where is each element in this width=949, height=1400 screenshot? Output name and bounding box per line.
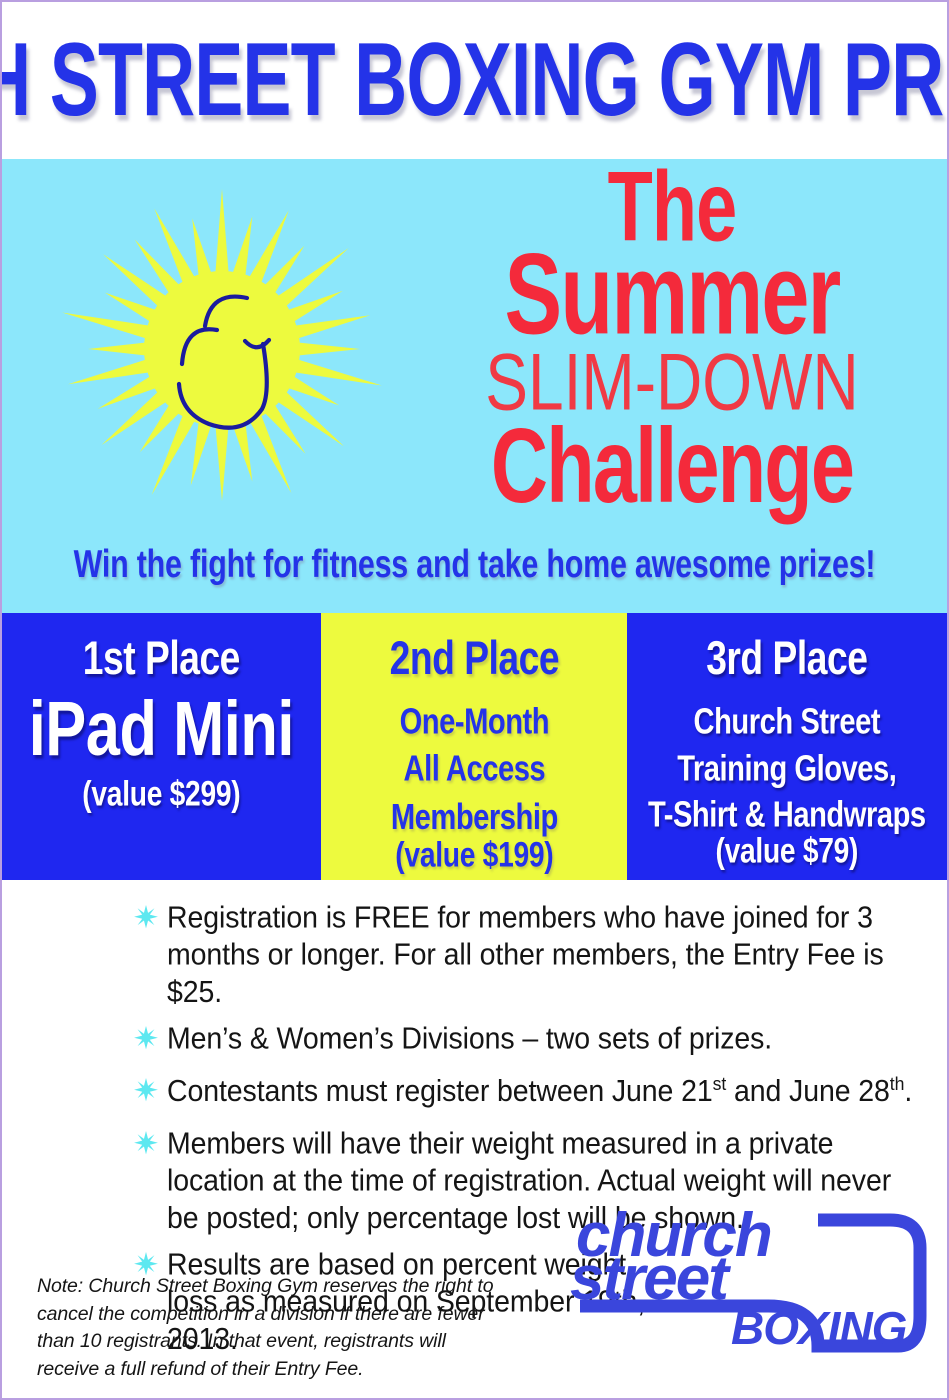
list-item: Contestants must register between June 2… [133,1073,923,1108]
prize-rank: 2nd Place [339,635,609,683]
bullet-3-sup2: th [890,1073,905,1094]
prize-rank: 3rd Place [646,635,928,683]
title-line-challenge: Challenge [429,419,915,512]
prize-item: One-Month All Access Membership [337,698,610,841]
list-item-text: Registration is FREE for members who hav… [167,900,923,1011]
church-street-boxing-logo: church street BOXING [568,1198,928,1363]
header-band: CHURCH STREET BOXING GYM PRESENTS [2,2,947,157]
tagline: Win the fight for fitness and take home … [26,542,924,587]
list-item-text: Contestants must register between June 2… [167,1073,912,1110]
bullet-3-sup1: st [713,1073,727,1094]
star-burst-bullet-icon [133,1073,163,1108]
prize-column-first: 1st Place iPad Mini (value $299) [2,613,321,880]
bullet-3-c: . [904,1075,912,1109]
star-burst-bullet-icon [133,1126,163,1161]
event-title-block: The Summer SLIM-DOWN Challenge [402,165,942,497]
logo-line-boxing: BOXING [731,1302,907,1354]
bullet-3-b: and June 28 [726,1075,890,1109]
poster: CHURCH STREET BOXING GYM PRESENTS The Su… [0,0,949,1400]
prize-band: 1st Place iPad Mini (value $299) 2nd Pla… [2,613,947,880]
star-burst-bullet-icon [133,900,163,935]
prize-value: (value $299) [19,776,303,813]
header-title: CHURCH STREET BOXING GYM PRESENTS [0,28,949,132]
list-item: Registration is FREE for members who hav… [133,900,923,1004]
disclaimer-note: Note: Church Street Boxing Gym reserves … [37,1273,507,1384]
hero-section: The Summer SLIM-DOWN Challenge Win the f… [2,159,947,613]
bullet-3-a: Contestants must register between June 2… [167,1075,713,1109]
list-item: Men’s & Women’s Divisions – two sets of … [133,1021,923,1056]
smiling-sun-icon [57,184,387,514]
prize-rank: 1st Place [21,635,302,683]
prize-value: (value $79) [644,833,929,870]
logo-line-street: street [570,1244,731,1313]
star-burst-bullet-icon [133,1021,163,1056]
list-item-text: Men’s & Women’s Divisions – two sets of … [167,1021,772,1058]
prize-column-third: 3rd Place Church Street Training Gloves,… [627,613,947,880]
details-section: Registration is FREE for members who hav… [2,880,947,1400]
prize-item: Church Street Training Gloves, T-Shirt &… [644,698,929,838]
prize-value: (value $199) [337,837,610,874]
prize-column-second: 2nd Place One-Month All Access Membershi… [321,613,628,880]
prize-item: iPad Mini [21,690,302,767]
title-line-summer: Summer [429,246,915,345]
